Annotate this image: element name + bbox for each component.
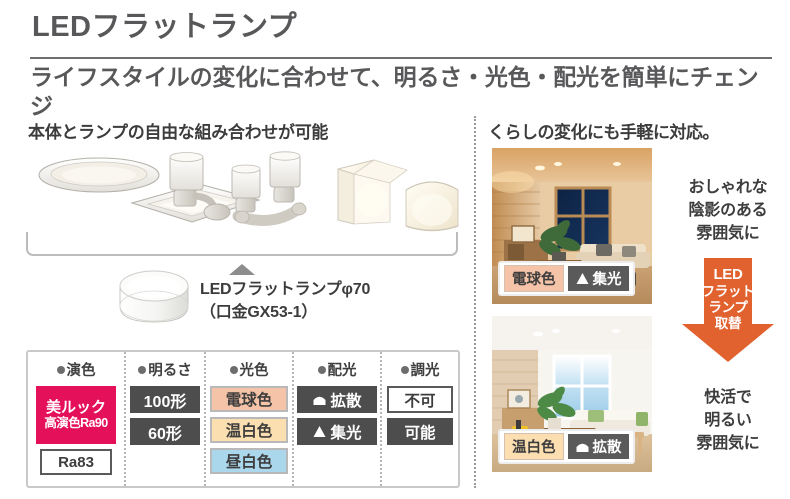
flat-lamp-caption: LEDフラットランプφ70 （口金GX53-1）	[200, 279, 450, 324]
caption-line: 雰囲気に	[666, 222, 790, 245]
spec-header-label: 明るさ	[148, 359, 192, 380]
flat-lamp-caption-line2: （口金GX53-1）	[200, 302, 450, 325]
chip-kanou[interactable]: 可能	[387, 418, 453, 445]
scene-photo-daylight: 温白色 拡散	[492, 316, 652, 472]
arrow-line: フラット	[682, 284, 774, 300]
spec-header-label: 調光	[411, 359, 440, 380]
chip-100gata[interactable]: 100形	[130, 386, 200, 413]
spec-header-label: 光色	[240, 359, 269, 380]
chip-label: 集光	[330, 421, 361, 443]
curved-bracket-light-icon	[406, 182, 458, 231]
title-divider	[30, 57, 772, 59]
flat-lamp-caption-line1: LEDフラットランプφ70	[200, 279, 450, 302]
infographic-page: LEDフラットランプ ライフスタイルの変化に合わせて、明るさ・光色・配光を簡単に…	[0, 0, 790, 499]
chip-onhakushoku[interactable]: 温白色	[210, 417, 288, 443]
spec-header-akarusa: 明るさ	[138, 359, 192, 380]
dome-icon	[575, 440, 590, 453]
spec-table: 演色 美ルック 高演色Ra90 Ra83 明るさ 100形 60形 光色 電球色	[26, 350, 460, 488]
badge-light-text: 集光	[593, 268, 622, 289]
chip-shuukou[interactable]: 集光	[297, 418, 377, 445]
scene-caption-daylight: 快活で 明るい 雰囲気に	[666, 386, 790, 456]
spec-column-akarusa: 明るさ 100形 60形	[124, 352, 204, 486]
up-arrow-icon	[229, 264, 255, 275]
fixture-illustrations	[24, 150, 464, 245]
spec-column-choukou: 調光 不可 可能	[380, 352, 458, 486]
flat-lamp-icon	[114, 268, 194, 330]
chip-60gata[interactable]: 60形	[130, 418, 200, 445]
badge-color-label: 温白色	[504, 433, 564, 460]
fixture-group-bracket	[26, 232, 458, 256]
lamp-replace-arrow-label: LED フラット ランプ 取替	[682, 266, 774, 333]
caption-line: 快活で	[666, 386, 790, 409]
left-section-heading: 本体とランプの自由な組み合わせが可能	[28, 118, 328, 143]
chip-sublabel: 高演色Ra90	[44, 416, 107, 430]
badge-light-label: 拡散	[568, 434, 629, 459]
bullet-icon	[57, 366, 65, 374]
spec-column-enshoku: 演色 美ルック 高演色Ra90 Ra83	[28, 352, 124, 486]
scene-photo-warm: 電球色 集光	[492, 148, 652, 304]
caption-line: おしゃれな	[666, 176, 790, 199]
chip-ra83[interactable]: Ra83	[40, 449, 112, 475]
triangle-icon	[575, 272, 590, 285]
spec-header-choukou: 調光	[401, 359, 440, 380]
chip-label: 拡散	[330, 389, 361, 411]
badge-color-label: 電球色	[504, 265, 564, 292]
arrow-line: ランプ	[682, 300, 774, 316]
caption-line: 雰囲気に	[666, 432, 790, 455]
arrow-line: 取替	[682, 316, 774, 332]
dome-icon	[312, 393, 327, 406]
chip-bi-look[interactable]: 美ルック 高演色Ra90	[36, 386, 116, 444]
spotlight-double-icon	[232, 152, 306, 223]
round-downlight-icon	[39, 158, 159, 192]
chip-label: 美ルック	[46, 400, 106, 417]
spec-header-label: 配光	[328, 359, 357, 380]
triangle-icon	[312, 425, 327, 438]
scene-badge-warm: 電球色 集光	[498, 261, 635, 296]
bullet-icon	[401, 366, 409, 374]
cube-bracket-light-icon	[338, 160, 407, 224]
scene-caption-warm: おしゃれな 陰影のある 雰囲気に	[666, 176, 790, 246]
arrow-line: LED	[682, 266, 774, 284]
badge-light-text: 拡散	[593, 436, 622, 457]
chip-kakusan[interactable]: 拡散	[297, 386, 377, 413]
bullet-icon	[318, 366, 326, 374]
spec-header-koushoku: 光色	[230, 359, 269, 380]
spec-column-haikou: 配光 拡散 集光	[292, 352, 380, 486]
spec-header-label: 演色	[67, 359, 96, 380]
scene-badge-daylight: 温白色 拡散	[498, 429, 635, 464]
right-section-heading: くらしの変化にも手軽に対応。	[488, 118, 719, 143]
chip-chuhakushoku[interactable]: 昼白色	[210, 448, 288, 474]
chip-fuka[interactable]: 不可	[387, 386, 453, 413]
bullet-icon	[138, 366, 146, 374]
caption-line: 明るい	[666, 409, 790, 432]
bullet-icon	[230, 366, 238, 374]
spec-header-enshoku: 演色	[57, 359, 96, 380]
page-subtitle: ライフスタイルの変化に合わせて、明るさ・光色・配光を簡単にチェンジ	[30, 63, 778, 121]
spec-header-haikou: 配光	[318, 359, 357, 380]
caption-line: 陰影のある	[666, 199, 790, 222]
chip-denkyushoku[interactable]: 電球色	[210, 386, 288, 412]
page-title: LEDフラットランプ	[32, 12, 772, 44]
spec-column-koushoku: 光色 電球色 温白色 昼白色	[204, 352, 292, 486]
badge-light-label: 集光	[568, 266, 629, 291]
panel-divider	[474, 116, 476, 488]
